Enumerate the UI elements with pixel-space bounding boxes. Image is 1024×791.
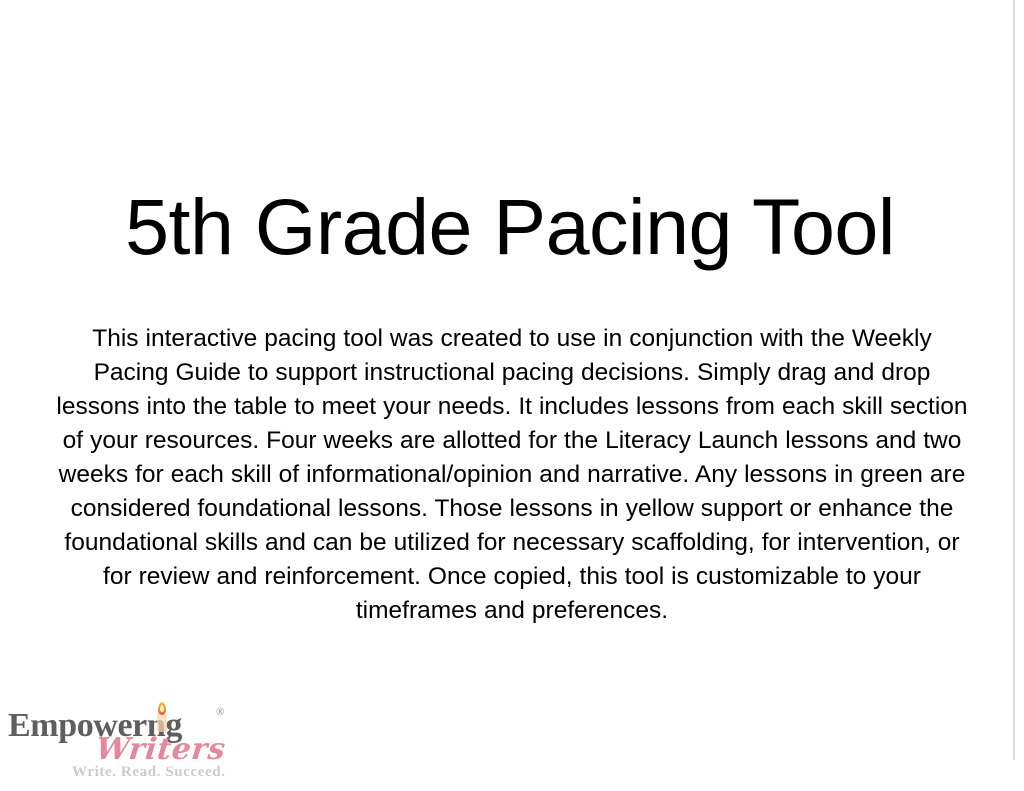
registered-trademark-mark: ® bbox=[216, 707, 224, 718]
presentation-slide: 5th Grade Pacing Tool This interactive p… bbox=[0, 0, 1024, 791]
flame-inner-shape bbox=[160, 705, 164, 712]
flame-body-shape bbox=[157, 714, 167, 732]
brand-script-word: Writers bbox=[94, 735, 227, 765]
brand-logo: Empowerng ® Writers Write. Read. Succeed… bbox=[8, 705, 238, 783]
flame-icon bbox=[154, 702, 170, 736]
slide-body-paragraph: This interactive pacing tool was created… bbox=[56, 322, 968, 628]
page-title: 5th Grade Pacing Tool bbox=[0, 179, 1020, 275]
slide-right-edge-rule bbox=[1013, 0, 1015, 760]
brand-tagline: Write. Read. Succeed. bbox=[72, 765, 226, 780]
